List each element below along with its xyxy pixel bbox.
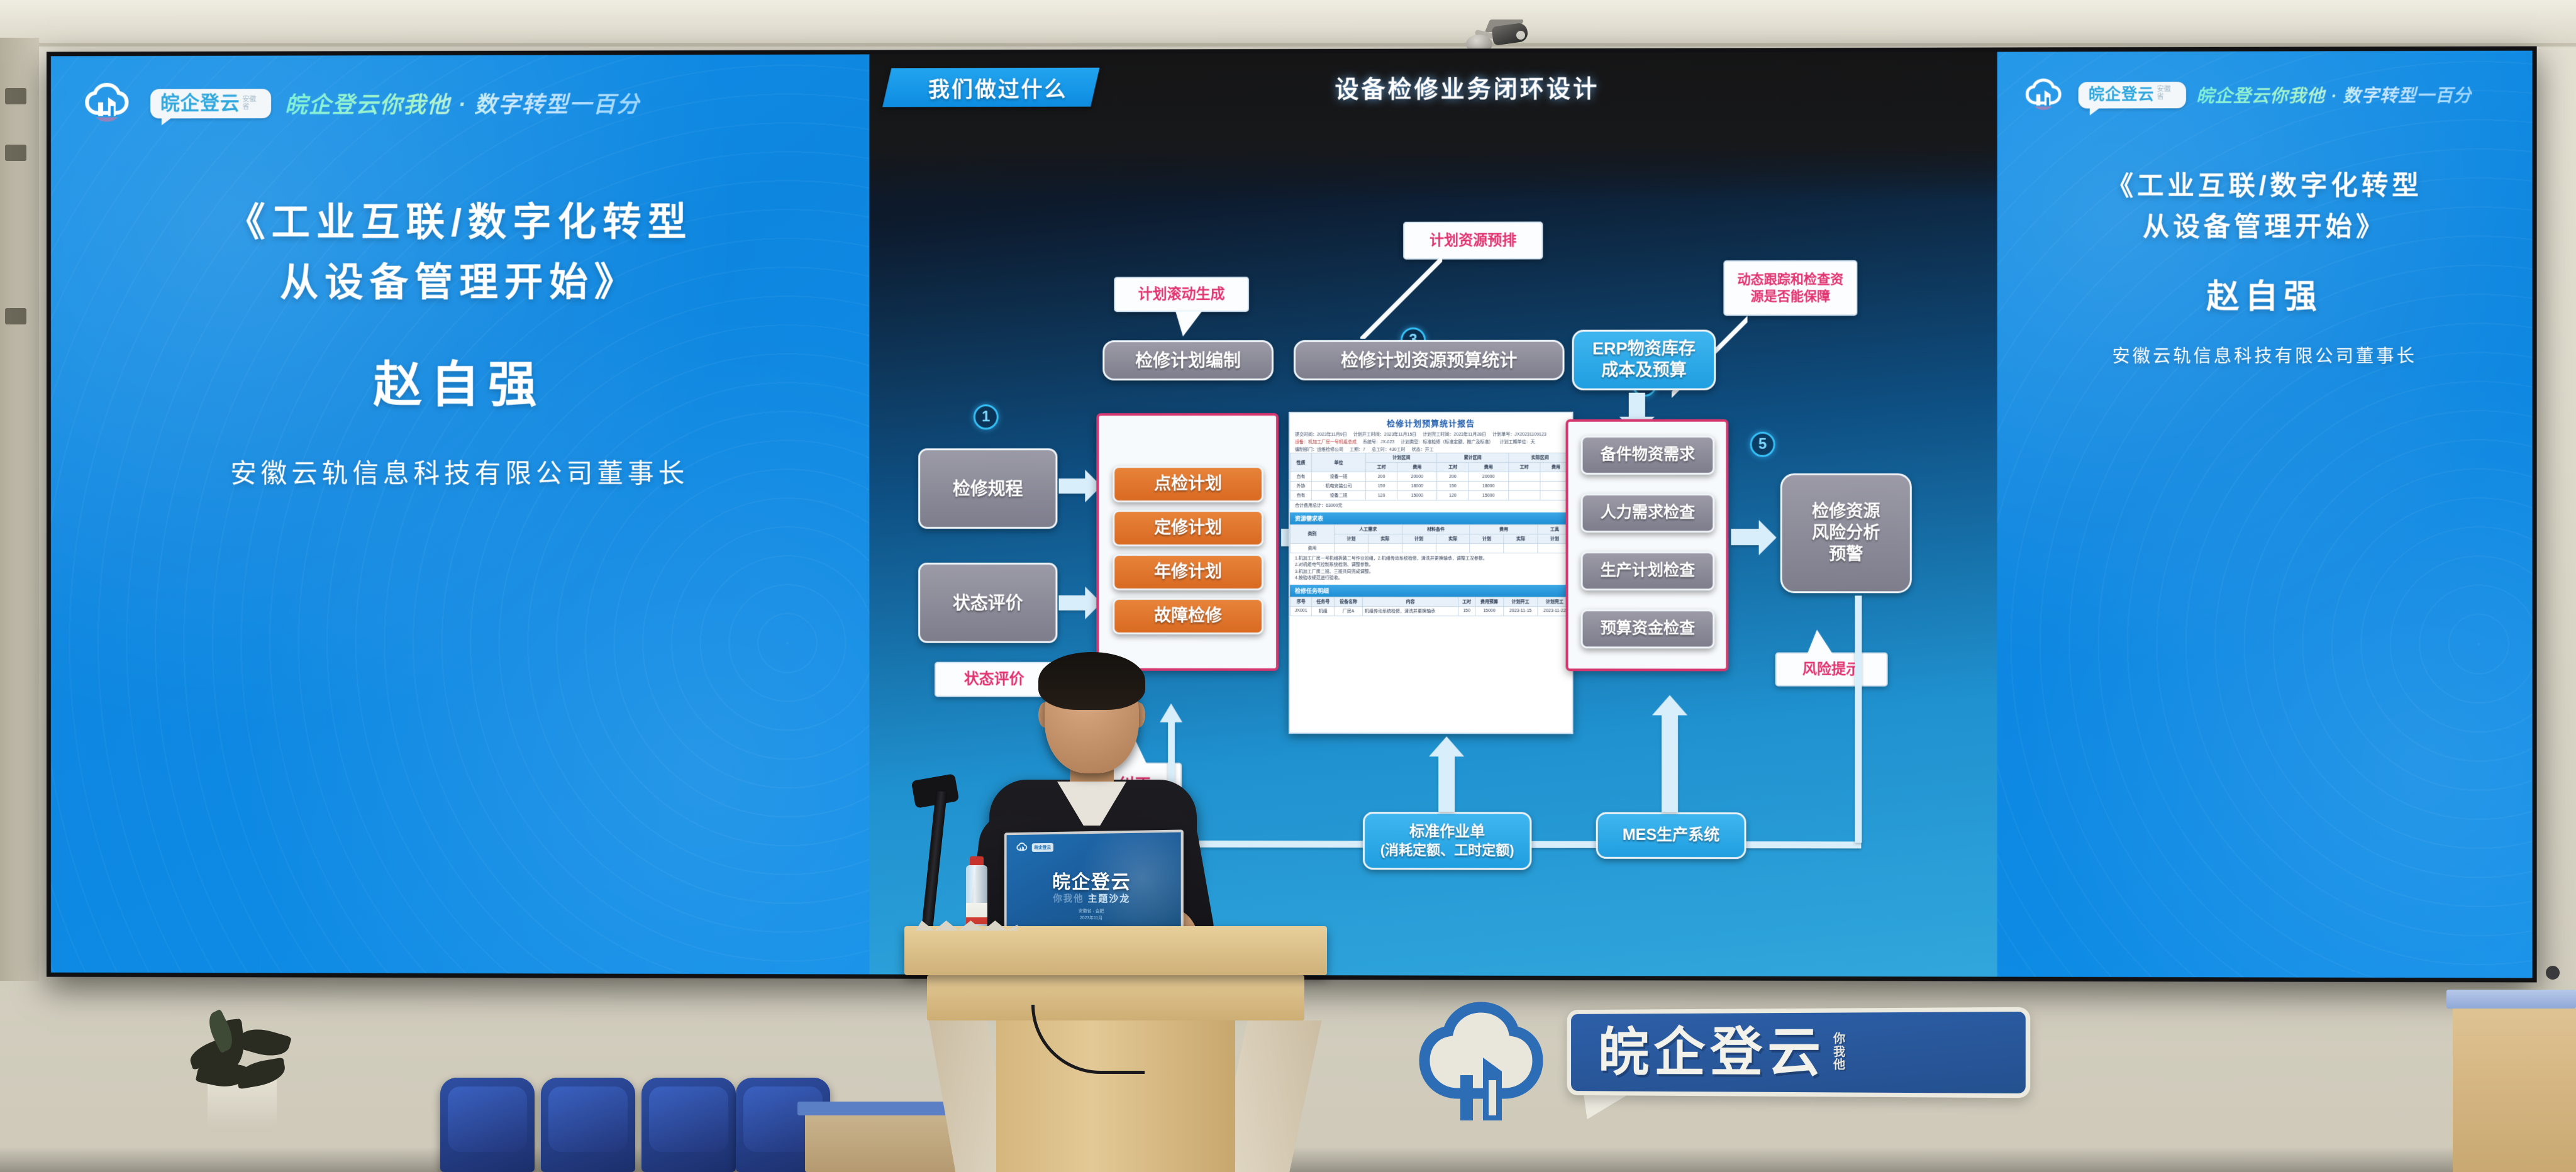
feedback-line xyxy=(1855,595,1862,843)
right-panel-body: 《工业互联/数字化转型 从设备管理开始》 赵自强 安徽云轨信息科技有限公司董事长 xyxy=(1997,165,2533,368)
report-notes: 1.机加工厂房一号机组拆装二号作业班组，2.机组传动系统检修，清洗并更换轴承，调… xyxy=(1290,553,1572,585)
speaker-org: 安徽云轨信息科技有限公司董事长 xyxy=(51,452,869,490)
right-brand-row: 皖企登云 安徽省 皖企登云你我他 · 数字转型一百分 xyxy=(1997,76,2533,114)
desk-knob xyxy=(2546,966,2560,980)
node-condition-assessment: 状态评价 xyxy=(918,563,1057,643)
arrow-head-icon xyxy=(1759,520,1777,555)
report-title: 检修计划预算统计报告 xyxy=(1290,413,1572,431)
callout-resource-prescheduling: 计划资源预排 xyxy=(1403,221,1543,259)
speaker-org: 安徽云轨信息科技有限公司董事长 xyxy=(1997,343,2533,368)
node-manpower-check: 人力需求检查 xyxy=(1581,494,1715,533)
potted-plant xyxy=(182,1006,302,1132)
node-annual-repair-plan: 年修计划 xyxy=(1113,554,1263,590)
laptop-logo: 皖企登云 xyxy=(1015,842,1053,853)
side-desk-right xyxy=(2453,1000,2576,1172)
node-maintenance-procedure: 检修规程 xyxy=(918,448,1057,529)
talk-title-line1: 《工业互联/数字化转型 xyxy=(51,192,869,254)
th-fee: 费用 xyxy=(1470,524,1538,534)
brand-pill-sub: 安徽省 xyxy=(243,97,262,113)
th-unit: 单位 xyxy=(1312,453,1366,472)
brand-slogan: 皖企登云你我他 · 数字转型一百分 xyxy=(285,86,640,119)
brand-pill-main: 皖企登云 xyxy=(160,93,240,113)
th-group-2: 累计区间 xyxy=(1437,453,1509,462)
report-meta: 提交时间：2023年11月9日 计划开工时间：2023年11月15日 计划完工时… xyxy=(1290,431,1572,453)
talk-title-line1: 《工业互联/数字化转型 xyxy=(1997,165,2533,207)
th-hours: 工时 xyxy=(1509,462,1540,472)
report-total: 合计费用总计：63000元 xyxy=(1290,500,1572,512)
arrow-icon xyxy=(1731,529,1760,545)
report-band-tasks: 检修任务明细 xyxy=(1290,585,1572,597)
wall-fixture xyxy=(5,145,26,161)
th-cost: 费用 xyxy=(1468,462,1508,472)
wall-seam xyxy=(0,43,2576,47)
arrow-head-icon xyxy=(1429,736,1464,756)
node-plan-preparation: 检修计划编制 xyxy=(1102,340,1274,380)
led-video-wall: 皖企登云 安徽省 皖企登云你我他 · 数字转型一百分 《工业互联/数字化转型 从… xyxy=(47,47,2537,983)
th-labor: 人工需求 xyxy=(1335,524,1402,534)
slide-title: 设备检修业务闭环设计 xyxy=(869,68,2068,105)
table-row: 外协 机电安装公司 150 18000 150 18000 xyxy=(1290,481,1572,490)
node-mes-system: MES生产系统 xyxy=(1596,812,1746,860)
wall-side-strip xyxy=(0,38,39,981)
callout-tail xyxy=(1807,629,1833,655)
brand-pill-main: 皖企登云 xyxy=(2089,87,2155,102)
node-erp-inventory: ERP物资库存 成本及预算 xyxy=(1572,329,1716,390)
node-budget-fund-check: 预算资金检查 xyxy=(1581,609,1715,648)
wall-sign-plate: 皖企登云 你我他 xyxy=(1567,1007,2031,1098)
cloud-logo-icon xyxy=(77,81,136,126)
wall-sign-sub: 你我他 xyxy=(1833,1032,1850,1072)
node-inspection-plan: 点检计划 xyxy=(1113,466,1263,502)
laptop-screen: 皖企登云 皖企登云 你我他 主题沙龙 安徽省 · 合肥 2023年11月 xyxy=(1004,829,1184,933)
wall-fixture xyxy=(5,308,26,324)
side-desk-right-top xyxy=(2446,990,2576,1009)
cloud-logo-icon xyxy=(1015,842,1029,853)
laptop-sub-text: 你我他 主题沙龙 xyxy=(1007,892,1181,906)
node-fault-repair: 故障检修 xyxy=(1113,598,1263,634)
node-spare-parts-demand: 备件物资需求 xyxy=(1581,436,1715,475)
report-band-resources: 资源需求表 xyxy=(1290,512,1572,524)
brand-slogan: 皖企登云你我他 · 数字转型一百分 xyxy=(2196,82,2472,108)
cloud-logo-icon xyxy=(1415,1000,1547,1135)
speaker-name: 赵自强 xyxy=(51,346,869,416)
table-row: 自有 设备二班 120 15000 120 15000 xyxy=(1290,490,1572,500)
callout-dynamic-tracking: 动态跟踪和检查资 源是否能保障 xyxy=(1723,260,1857,316)
talk-title-line2: 从设备管理开始》 xyxy=(51,253,869,314)
blue-conference-chairs xyxy=(440,1063,830,1172)
report-table: 性质 单位 计划区间 累计区间 实际区间 工时 费用 工时 费用 工时 费用 xyxy=(1290,453,1572,500)
node-scheduled-repair-plan: 定修计划 xyxy=(1113,510,1263,546)
th-type: 性质 xyxy=(1290,453,1311,472)
right-title-panel: 皖企登云 安徽省 皖企登云你我他 · 数字转型一百分 《工业互联/数字化转型 从… xyxy=(1997,51,2533,978)
node-resource-budget-statistics: 检修计划资源预算统计 xyxy=(1294,340,1565,380)
wall-fixture xyxy=(5,88,26,104)
callout-tail xyxy=(1173,311,1202,336)
arrow-icon xyxy=(1058,595,1086,611)
left-brand-row: 皖企登云 安徽省 皖企登云你我他 · 数字转型一百分 xyxy=(51,79,869,126)
node-risk-analysis-alert: 检修资源 风险分析 预警 xyxy=(1780,473,1912,594)
cloud-logo-icon xyxy=(2019,77,2068,113)
arrow-icon xyxy=(1058,478,1086,494)
arrow-icon xyxy=(1438,756,1455,812)
table-row: 费用 xyxy=(1290,543,1572,553)
wall-sign-main: 皖企登云 xyxy=(1598,1025,1826,1079)
laptop-footer: 安徽省 · 合肥 2023年11月 xyxy=(1007,908,1181,923)
callout-tail xyxy=(1360,256,1442,339)
callout-plan-rolling: 计划滚动生成 xyxy=(1114,277,1249,312)
th-hours: 工时 xyxy=(1437,462,1468,472)
th-cost: 费用 xyxy=(1397,462,1437,472)
th-group-1: 计划区间 xyxy=(1366,453,1437,462)
node-standard-work-order: 标准作业单 (消耗定额、工时定额) xyxy=(1363,812,1531,870)
step-badge-5: 5 xyxy=(1750,432,1775,457)
brand-pill: 皖企登云 安徽省 xyxy=(2079,82,2186,108)
arrow-head-icon xyxy=(1652,695,1687,716)
brand-pill: 皖企登云 安徽省 xyxy=(150,89,271,118)
th-material: 材料备件 xyxy=(1402,524,1470,534)
speaker-name: 赵自强 xyxy=(1997,270,2533,318)
laptop-brand-pill: 皖企登云 xyxy=(1032,843,1053,852)
th-category: 类别 xyxy=(1290,524,1334,543)
th-hours: 工时 xyxy=(1366,462,1397,472)
table-row: JX001机组厂房A 机组传动系统检修，清洗并更换轴承 150150002023… xyxy=(1290,606,1572,616)
report-screenshot: 检修计划预算统计报告 提交时间：2023年11月9日 计划开工时间：2023年1… xyxy=(1289,412,1574,734)
wall-brand-sign: 皖企登云 你我他 xyxy=(1415,993,2044,1138)
arrow-icon xyxy=(1662,716,1678,812)
node-production-plan-check: 生产计划检查 xyxy=(1581,551,1715,590)
th-group-3: 实际区间 xyxy=(1509,453,1572,462)
talk-title-line2: 从设备管理开始》 xyxy=(1997,206,2533,248)
step-badge-1: 1 xyxy=(974,404,999,429)
brand-pill-sub: 安徽省 xyxy=(2157,87,2176,102)
left-title-panel: 皖企登云 安徽省 皖企登云你我他 · 数字转型一百分 《工业互联/数字化转型 从… xyxy=(51,54,869,974)
conference-room-photo: 皖企登云 安徽省 皖企登云你我他 · 数字转型一百分 《工业互联/数字化转型 从… xyxy=(0,0,2576,1172)
ceiling xyxy=(0,0,2576,44)
left-panel-body: 《工业互联/数字化转型 从设备管理开始》 赵自强 安徽云轨信息科技有限公司董事长 xyxy=(51,192,869,490)
laptop-main-text: 皖企登云 xyxy=(1007,866,1181,894)
table-row: 自有 设备一班 200 20000 200 20000 xyxy=(1290,472,1572,481)
water-bottle xyxy=(963,856,990,935)
callout-risk-notice: 风险提示 xyxy=(1775,653,1888,687)
report-resource-table: 类别 人工需求 材料备件 费用 工具 计划实际计划实际计划实际计划 费用 xyxy=(1290,524,1572,553)
report-task-table: 序号 任务号 设备名称 内容 工时 费用预算 计划开工 计划完工 JX001机组… xyxy=(1290,597,1572,616)
